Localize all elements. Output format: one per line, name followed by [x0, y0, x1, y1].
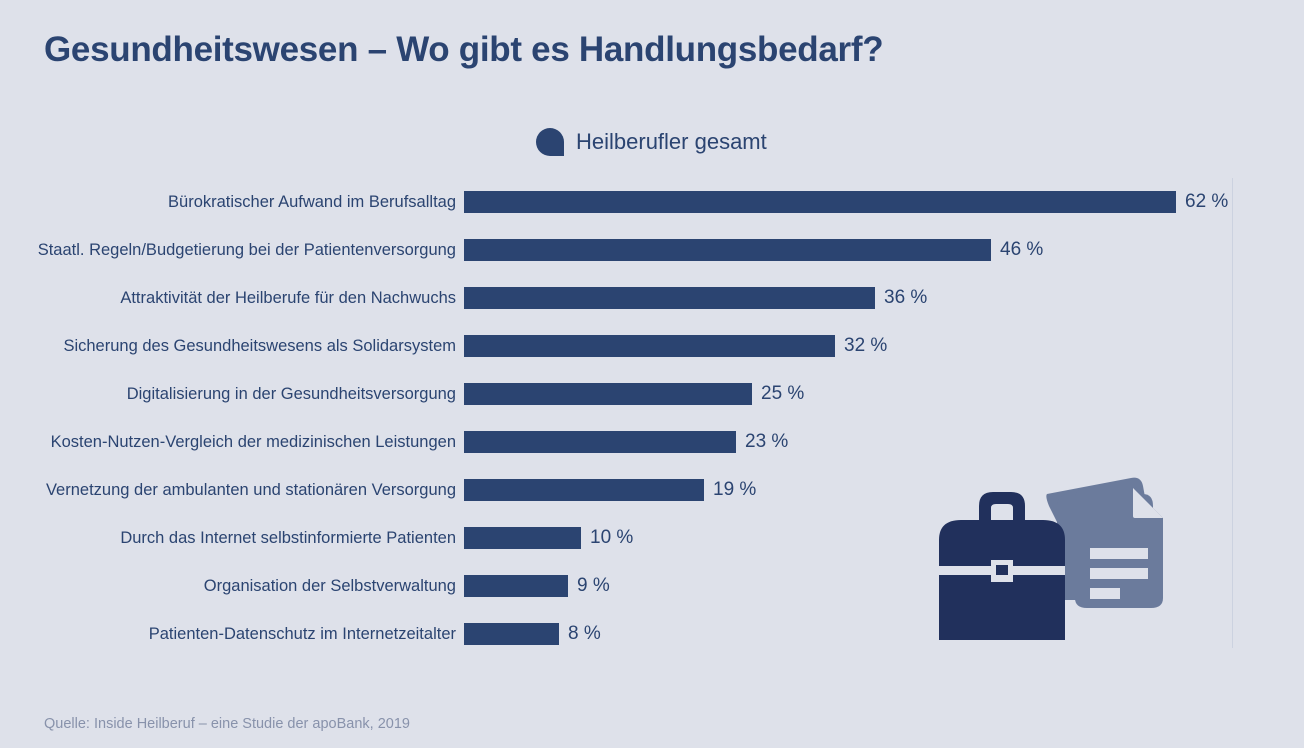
bar[interactable] — [464, 239, 991, 261]
category-label: Sicherung des Gesundheitswesens als Soli… — [0, 337, 456, 356]
legend-label: Heilberufler gesamt — [576, 129, 767, 155]
category-label: Digitalisierung in der Gesundheitsversor… — [0, 385, 456, 404]
chart-row: Attraktivität der Heilberufe für den Nac… — [0, 274, 1304, 322]
bar[interactable] — [464, 287, 875, 309]
bar-value-label: 9 % — [577, 575, 610, 597]
chart-row: Staatl. Regeln/Budgetierung bei der Pati… — [0, 226, 1304, 274]
bar-value-label: 8 % — [568, 623, 601, 645]
bar-group: 32 % — [464, 335, 887, 357]
category-label: Bürokratischer Aufwand im Berufsalltag — [0, 193, 456, 212]
bar-value-label: 23 % — [745, 431, 788, 453]
bar-group: 46 % — [464, 239, 1043, 261]
bar-group: 8 % — [464, 623, 601, 645]
bar[interactable] — [464, 431, 736, 453]
bar-group: 23 % — [464, 431, 788, 453]
page-title: Gesundheitswesen – Wo gibt es Handlungsb… — [44, 30, 883, 70]
briefcase-and-documents-illustration — [935, 450, 1175, 640]
bar[interactable] — [464, 383, 752, 405]
bar-group: 10 % — [464, 527, 633, 549]
bar[interactable] — [464, 623, 559, 645]
bar-value-label: 25 % — [761, 383, 804, 405]
category-label: Organisation der Selbstverwaltung — [0, 577, 456, 596]
bar-value-label: 62 % — [1185, 191, 1228, 213]
bar[interactable] — [464, 527, 581, 549]
category-label: Patienten-Datenschutz im Internetzeitalt… — [0, 625, 456, 644]
bar[interactable] — [464, 335, 835, 357]
chart-row: Digitalisierung in der Gesundheitsversor… — [0, 370, 1304, 418]
bar-group: 62 % — [464, 191, 1228, 213]
bar-group: 19 % — [464, 479, 756, 501]
bar-group: 25 % — [464, 383, 804, 405]
bar-value-label: 36 % — [884, 287, 927, 309]
category-label: Vernetzung der ambulanten und stationäre… — [0, 481, 456, 500]
bar-group: 9 % — [464, 575, 610, 597]
bar-value-label: 10 % — [590, 527, 633, 549]
circle-marker-icon — [536, 128, 564, 156]
category-label: Durch das Internet selbstinformierte Pat… — [0, 529, 456, 548]
source-note: Quelle: Inside Heilberuf – eine Studie d… — [44, 716, 410, 732]
bar[interactable] — [464, 575, 568, 597]
bar-value-label: 46 % — [1000, 239, 1043, 261]
chart-row: Bürokratischer Aufwand im Berufsalltag62… — [0, 178, 1304, 226]
category-label: Kosten-Nutzen-Vergleich der medizinische… — [0, 433, 456, 452]
bar-value-label: 19 % — [713, 479, 756, 501]
chart-legend: Heilberufler gesamt — [536, 128, 767, 156]
bar-value-label: 32 % — [844, 335, 887, 357]
chart-row: Sicherung des Gesundheitswesens als Soli… — [0, 322, 1304, 370]
bar[interactable] — [464, 479, 704, 501]
chart-page: Gesundheitswesen – Wo gibt es Handlungsb… — [0, 0, 1304, 748]
category-label: Attraktivität der Heilberufe für den Nac… — [0, 289, 456, 308]
category-label: Staatl. Regeln/Budgetierung bei der Pati… — [0, 241, 456, 260]
bar[interactable] — [464, 191, 1176, 213]
bar-group: 36 % — [464, 287, 927, 309]
